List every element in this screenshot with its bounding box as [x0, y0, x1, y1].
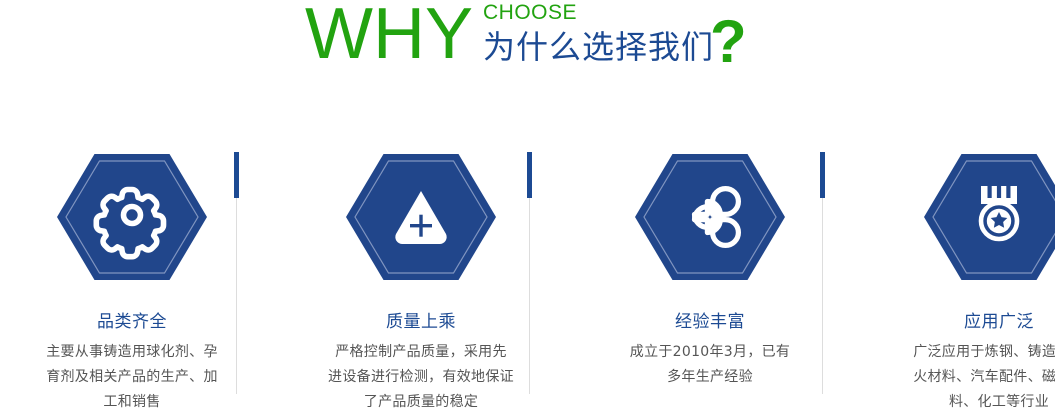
separator-accent	[234, 152, 239, 198]
hexagon-badge	[346, 152, 496, 282]
card-body: 严格控制产品质量，采用先 进设备进行检测，有效地保证 了产品质量的稳定	[289, 340, 553, 415]
hexagon-badge	[57, 152, 207, 282]
section-header: WHY CHOOSE 为什么选择我们 ?	[0, 0, 1055, 95]
feature-card[interactable]: 质量上乘 严格控制产品质量，采用先 进设备进行检测，有效地保证 了产品质量的稳定	[289, 140, 553, 416]
card-title: 经验丰富	[578, 312, 842, 332]
card-title: 质量上乘	[289, 312, 553, 332]
column-separator	[822, 152, 823, 402]
separator-line	[529, 198, 530, 394]
separator-line	[822, 198, 823, 394]
feature-card[interactable]: 品类齐全 主要从事铸造用球化剂、孕 育剂及相关产品的生产、加 工和销售	[0, 140, 264, 416]
feature-card[interactable]: 经验丰富 成立于2010年3月，已有 多年生产经验	[578, 140, 842, 416]
header-subtitle-cn: 为什么选择我们	[483, 29, 714, 65]
separator-accent	[820, 152, 825, 198]
hexagon-badge	[924, 152, 1055, 282]
card-title: 品类齐全	[0, 312, 264, 332]
separator-line	[236, 198, 237, 394]
hexagon-badge	[635, 152, 785, 282]
header-question-mark: ?	[710, 12, 747, 72]
card-title: 应用广泛	[867, 312, 1055, 332]
column-separator	[236, 152, 237, 402]
four-petal-clover-icon	[635, 152, 785, 282]
card-body: 主要从事铸造用球化剂、孕 育剂及相关产品的生产、加 工和销售	[0, 340, 264, 415]
header-choose-text: CHOOSE	[483, 2, 577, 24]
gear-icon	[57, 152, 207, 282]
medal-star-icon	[924, 152, 1055, 282]
triangle-plus-icon	[346, 152, 496, 282]
card-body: 广泛应用于炼钢、铸造，耐 火材料、汽车配件、磁性材 料、化工等行业	[867, 340, 1055, 415]
feature-cards-row: 品类齐全 主要从事铸造用球化剂、孕 育剂及相关产品的生产、加 工和销售 质量上乘…	[0, 140, 1055, 416]
header-why-text: WHY	[305, 0, 473, 70]
header-inner: WHY CHOOSE 为什么选择我们 ?	[305, 0, 775, 95]
feature-card[interactable]: 应用广泛 广泛应用于炼钢、铸造，耐 火材料、汽车配件、磁性材 料、化工等行业	[867, 140, 1055, 416]
card-body: 成立于2010年3月，已有 多年生产经验	[578, 340, 842, 390]
column-separator	[529, 152, 530, 402]
separator-accent	[527, 152, 532, 198]
